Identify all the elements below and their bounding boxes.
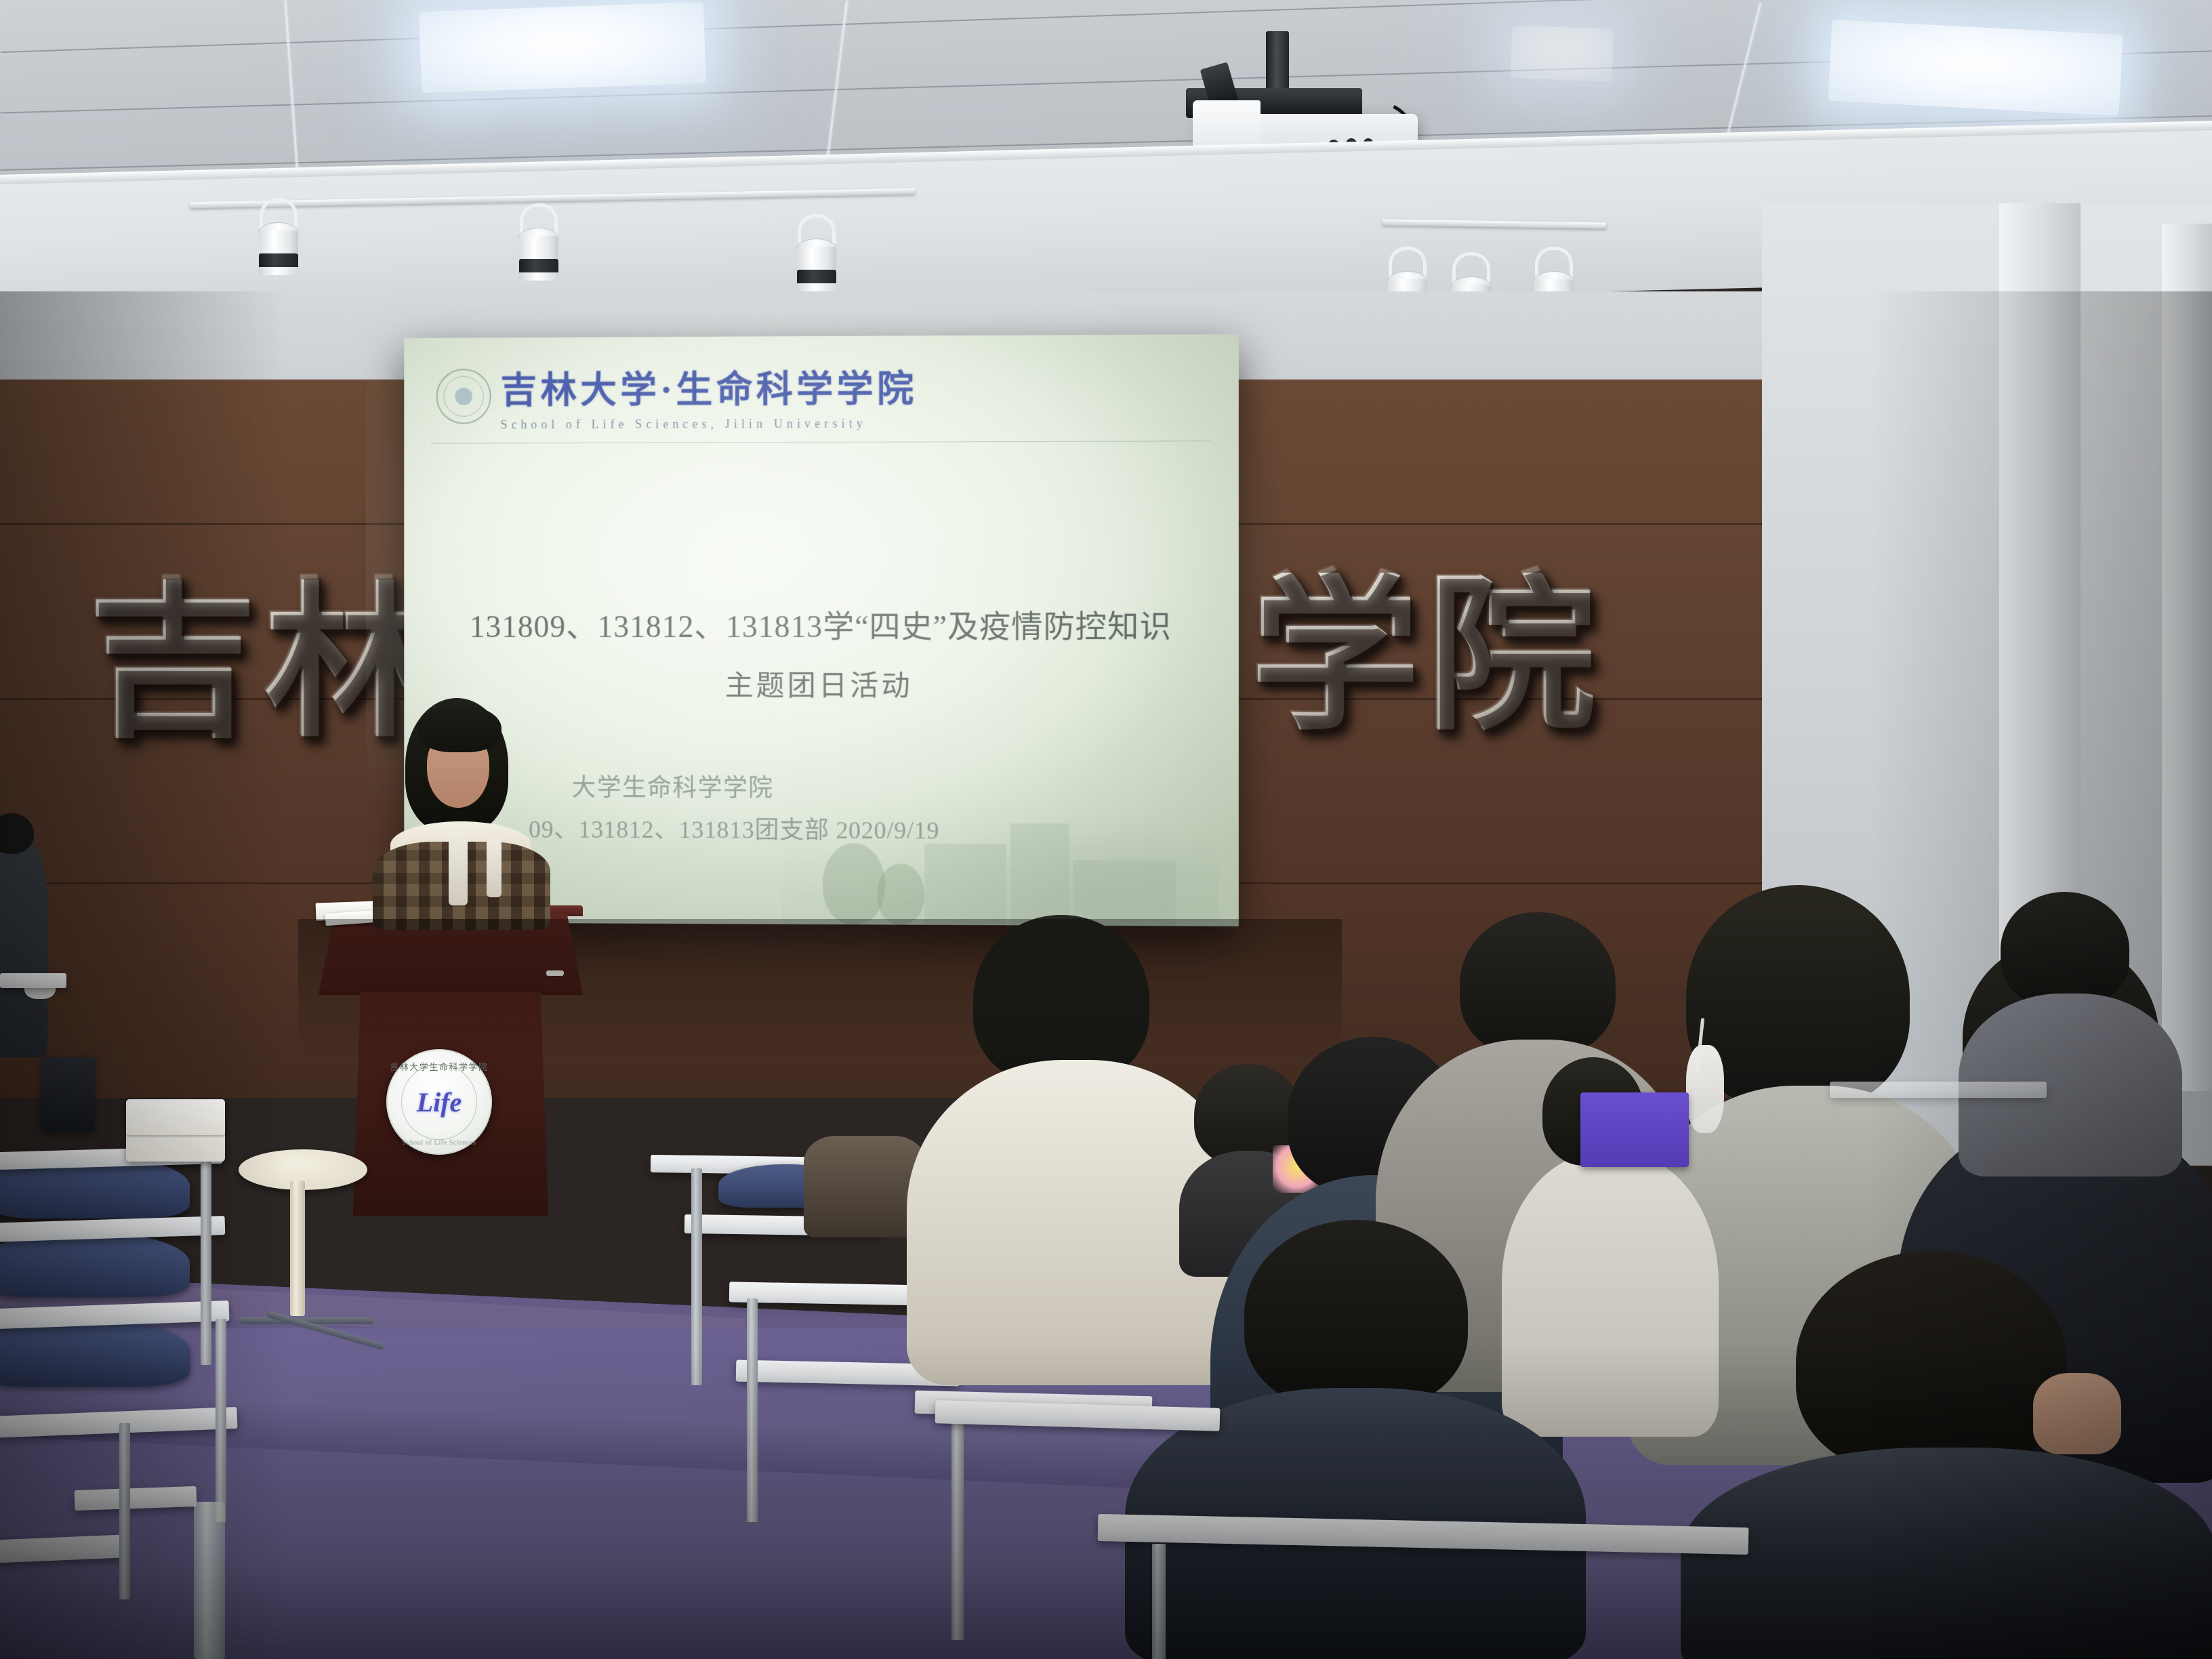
chair-left-3 [0,1319,190,1387]
slide-logo: 吉林大学·生命科学学院 School of Life Sciences, Jil… [436,359,918,432]
desk-leg-right-front [1152,1544,1166,1659]
attendee-foreground-right-hair [1796,1251,2067,1475]
attendee-foreground-right [1681,1251,2212,1659]
attendee-foreground-center [1125,1220,1586,1659]
ceiling-light-panel-far-right [1511,25,1614,81]
lecture-hall-photo: 吉林 学院 吉林大学·生命科学学院 School of Life Science… [0,0,2212,1659]
presenter [352,698,556,922]
lectern: 吉林大学生命科学学院 Life School of Life Sciences [319,905,583,1285]
slide-logo-chinese: 吉林大学·生命科学学院 [501,359,918,413]
attendee-back-right-hair [2001,892,2129,1007]
ceiling-light-panel-right [1828,20,2123,116]
emblem-chinese-text: 吉林大学生命科学学院 [386,1060,492,1073]
chair-left-2 [0,1232,190,1297]
side-equipment-table [0,973,66,988]
attendee-left-edge [0,813,54,1057]
slide-logo-english: School of Life Sciences, Jilin Universit… [501,417,918,432]
attendee-foreground-right-hand [2033,1373,2121,1454]
attendee-cream-hair [973,915,1149,1084]
water-bottle [194,1502,225,1659]
projector-mount-pole [1266,31,1289,94]
side-equipment-case [41,1057,95,1132]
attendee-foreground-right-body [1681,1448,2212,1659]
desk-left-6 [75,1486,197,1511]
emblem-life-wordmark: Life [417,1086,462,1118]
desk-leg-left-2 [216,1319,226,1522]
lectern-emblem: 吉林大学生命科学学院 Life School of Life Sciences [386,1049,492,1155]
desk-leg-left-1 [201,1162,211,1365]
desk-leg-left-3 [119,1423,130,1599]
desk-center-3 [729,1282,933,1305]
handbag-flap [126,1099,225,1135]
presenter-bangs [417,705,501,752]
attendee-foreground-center-hair [1244,1220,1468,1410]
wall-characters-right: 学院 [1250,573,1603,742]
presenter-lapel-tie [487,839,501,897]
slide-logo-rule [431,441,1210,443]
lectern-microphone [546,970,564,976]
desk-leg-center-2 [747,1298,758,1522]
desk-leg-center-1 [691,1168,702,1385]
storage-crate [1580,1092,1689,1167]
desk-far-right [1830,1082,2047,1098]
attendee-grey-hoodie-hair [1460,912,1616,1056]
emblem-english-text: School of Life Sciences [386,1139,492,1147]
slide-title: 131809、131812、131813学“四史”及疫情防控知识 [404,602,1239,647]
slide-org-line: 大学生命科学学院 [572,768,774,804]
handbag [126,1099,225,1162]
university-seal-icon [436,369,491,424]
attendee-left-torso [0,840,47,1057]
presenter-scarf [449,831,468,905]
stool-post [290,1181,305,1316]
attendee-back-right [1959,892,2182,1176]
ceiling-light-panel-left [419,2,706,94]
slide-unit-line: 09、131812、131813团支部 2020/9/19 [529,810,939,846]
desk-leg-center-3 [951,1410,964,1640]
